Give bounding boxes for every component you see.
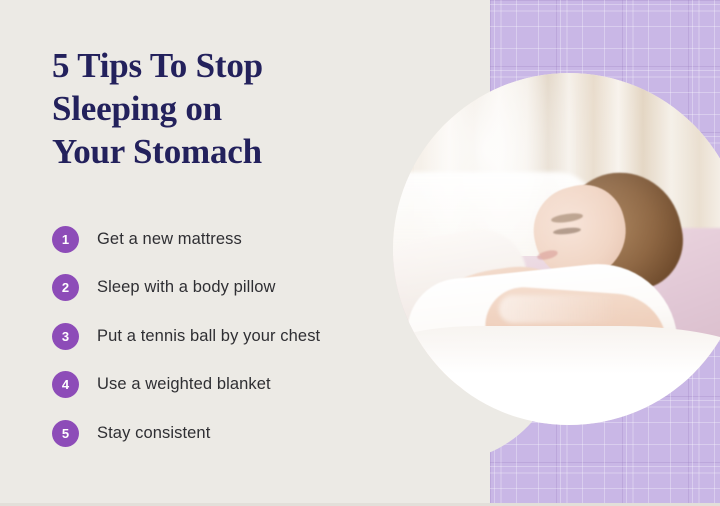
photo-arm-highlight <box>499 295 619 323</box>
list-item: 5 Stay consistent <box>52 409 412 458</box>
list-item: 2 Sleep with a body pillow <box>52 264 412 313</box>
tip-number-badge: 1 <box>52 226 79 253</box>
list-item: 4 Use a weighted blanket <box>52 361 412 410</box>
infographic-canvas: 5 Tips To Stop Sleeping on Your Stomach … <box>0 0 720 506</box>
tip-number-badge: 4 <box>52 371 79 398</box>
tip-label: Sleep with a body pillow <box>97 278 276 297</box>
tip-number-badge: 3 <box>52 323 79 350</box>
sleeping-woman-photo <box>393 73 720 425</box>
tip-label: Put a tennis ball by your chest <box>97 327 320 346</box>
tips-list: 1 Get a new mattress 2 Sleep with a body… <box>52 215 412 458</box>
tip-number-badge: 2 <box>52 274 79 301</box>
tip-label: Get a new mattress <box>97 230 242 249</box>
photo-scene <box>393 73 720 425</box>
tip-label: Use a weighted blanket <box>97 375 271 394</box>
photo-white-duvet <box>393 326 720 425</box>
list-item: 3 Put a tennis ball by your chest <box>52 312 412 361</box>
tip-number-badge: 5 <box>52 420 79 447</box>
tip-label: Stay consistent <box>97 424 210 443</box>
page-title: 5 Tips To Stop Sleeping on Your Stomach <box>52 44 382 173</box>
list-item: 1 Get a new mattress <box>52 215 412 264</box>
